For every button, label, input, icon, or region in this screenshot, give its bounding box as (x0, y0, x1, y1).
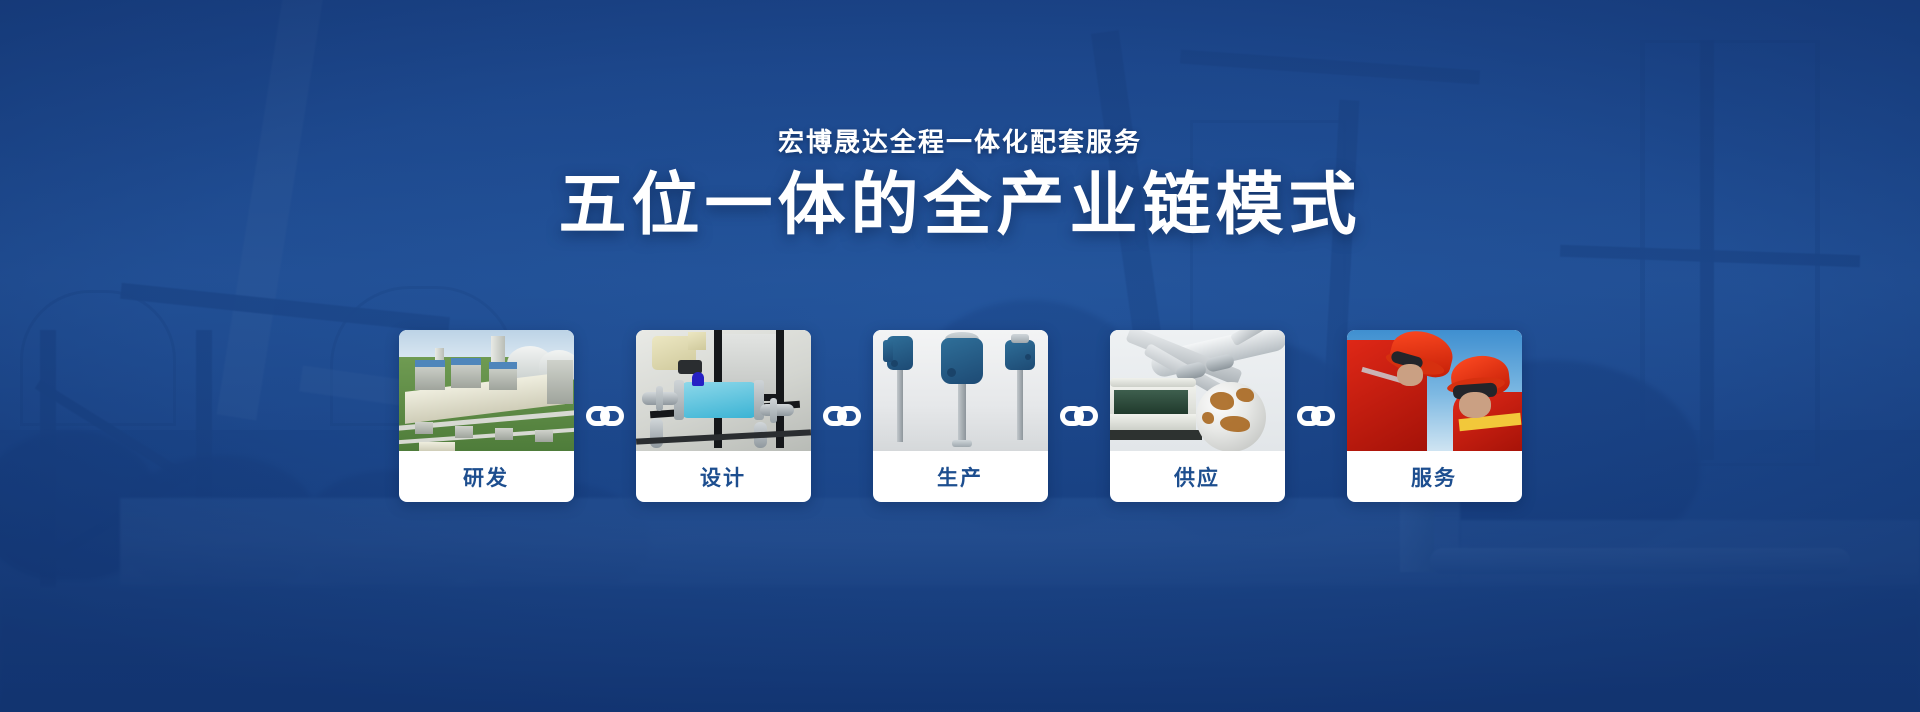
chain-connector-3 (1048, 330, 1110, 502)
chain-step-image-shengchan (873, 330, 1048, 451)
banner-content: 宏博晟达全程一体化配套服务 五位一体的全产业链模式 (0, 0, 1920, 712)
chain-step-image-fuwu (1347, 330, 1522, 451)
chain-connector-1 (574, 330, 636, 502)
chain-link-icon (1296, 403, 1336, 429)
chain-step-card-sheji[interactable]: 设计 (636, 330, 811, 502)
chain-step-image-gongying (1110, 330, 1285, 451)
chain-step-label-fuwu: 服务 (1347, 451, 1522, 502)
value-chain-row: 研发 (0, 330, 1920, 502)
chain-step-card-yanfa[interactable]: 研发 (399, 330, 574, 502)
banner-subtitle: 宏博晟达全程一体化配套服务 (0, 122, 1920, 159)
chain-connector-4 (1285, 330, 1347, 502)
chain-step-card-shengchan[interactable]: 生产 (873, 330, 1048, 502)
hero-banner: 宏博晟达全程一体化配套服务 五位一体的全产业链模式 (0, 0, 1920, 712)
chain-step-label-shengchan: 生产 (873, 451, 1048, 502)
banner-title: 五位一体的全产业链模式 (0, 168, 1920, 243)
chain-link-icon (822, 403, 862, 429)
chain-connector-2 (811, 330, 873, 502)
chain-step-card-fuwu[interactable]: 服务 (1347, 330, 1522, 502)
chain-step-label-sheji: 设计 (636, 451, 811, 502)
chain-step-image-yanfa (399, 330, 574, 451)
chain-step-label-yanfa: 研发 (399, 451, 574, 502)
chain-step-image-sheji (636, 330, 811, 451)
chain-step-label-gongying: 供应 (1110, 451, 1285, 502)
chain-link-icon (585, 403, 625, 429)
chain-link-icon (1059, 403, 1099, 429)
chain-step-card-gongying[interactable]: 供应 (1110, 330, 1285, 502)
